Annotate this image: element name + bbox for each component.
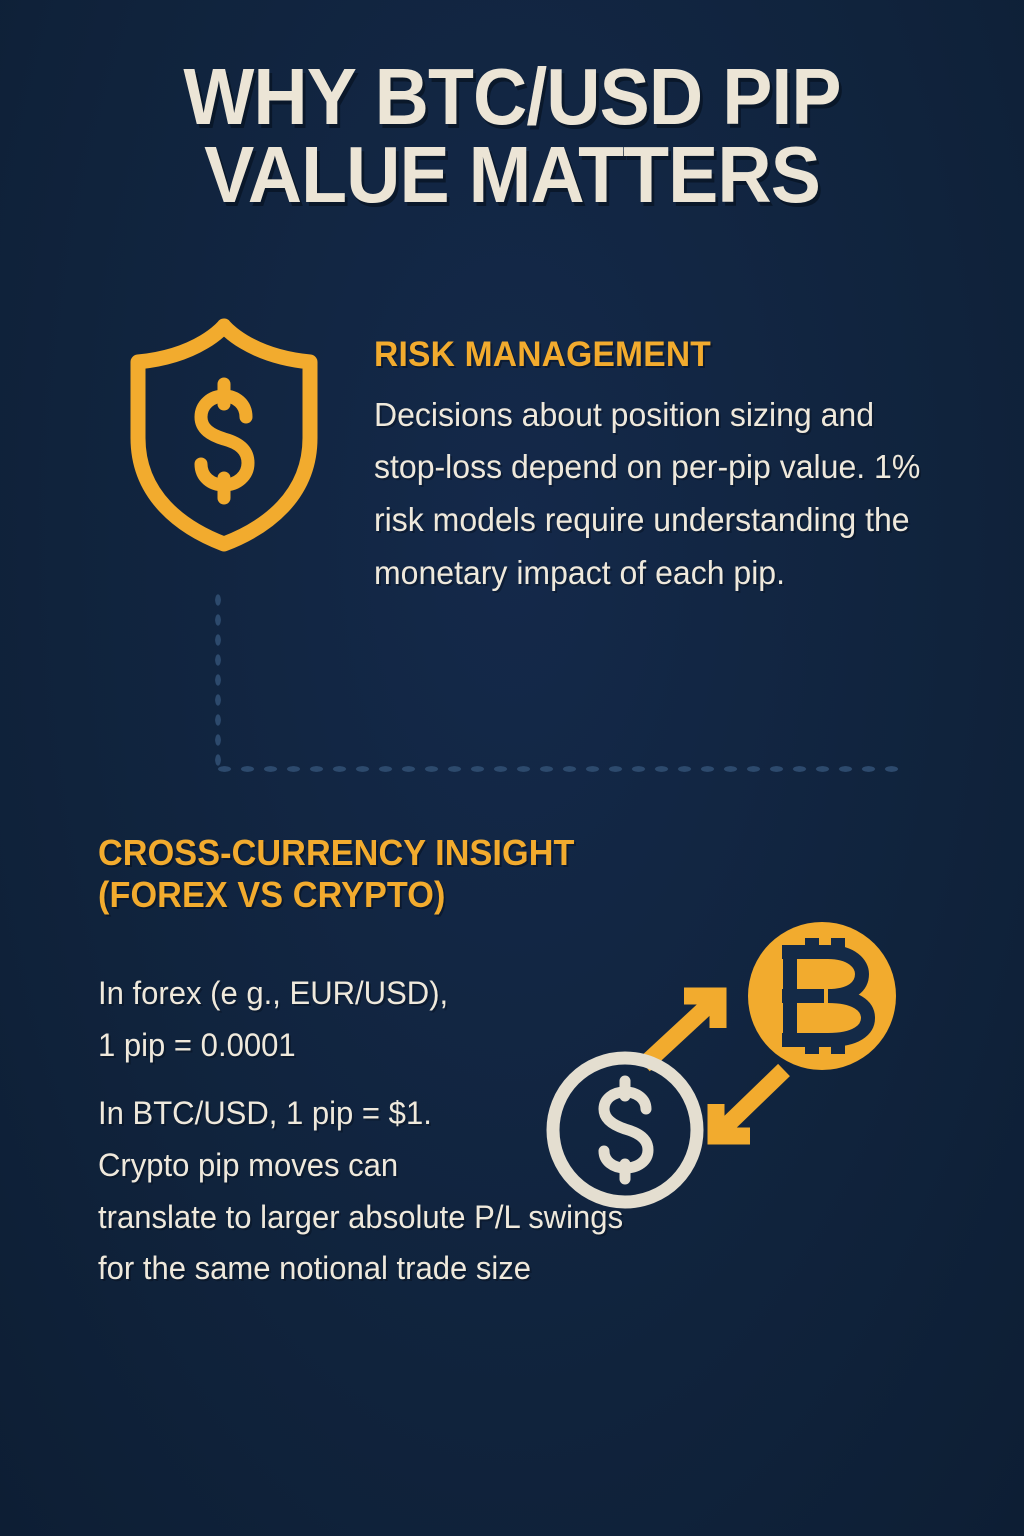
arrow-down-left-icon (716, 1070, 784, 1136)
section-heading-risk-management: RISK MANAGEMENT (374, 336, 931, 375)
divider-dotted-vertical (213, 590, 223, 774)
section-body-forex-pip: In forex (e g., EUR/USD), 1 pip = 0.0001 (98, 968, 554, 1072)
arrow-up-right-icon (644, 996, 718, 1065)
section-body-risk-management: Decisions about position sizing and stop… (374, 389, 937, 600)
infographic-canvas: WHY BTC/USD PIP VALUE MATTERS RISK MANAG… (0, 0, 1024, 1536)
dollar-coin-icon (553, 1058, 697, 1202)
divider-dotted-horizontal (213, 764, 903, 774)
bitcoin-coin-icon (748, 922, 896, 1070)
section-heading-cross-currency: CROSS-CURRENCY INSIGHT (FOREX VS CRYPTO) (98, 832, 763, 916)
page-title: WHY BTC/USD PIP VALUE MATTERS (31, 58, 994, 213)
btc-usd-exchange-icon (532, 918, 932, 1210)
section-risk-management: RISK MANAGEMENT Decisions about position… (374, 336, 954, 600)
shield-dollar-icon (124, 316, 324, 552)
